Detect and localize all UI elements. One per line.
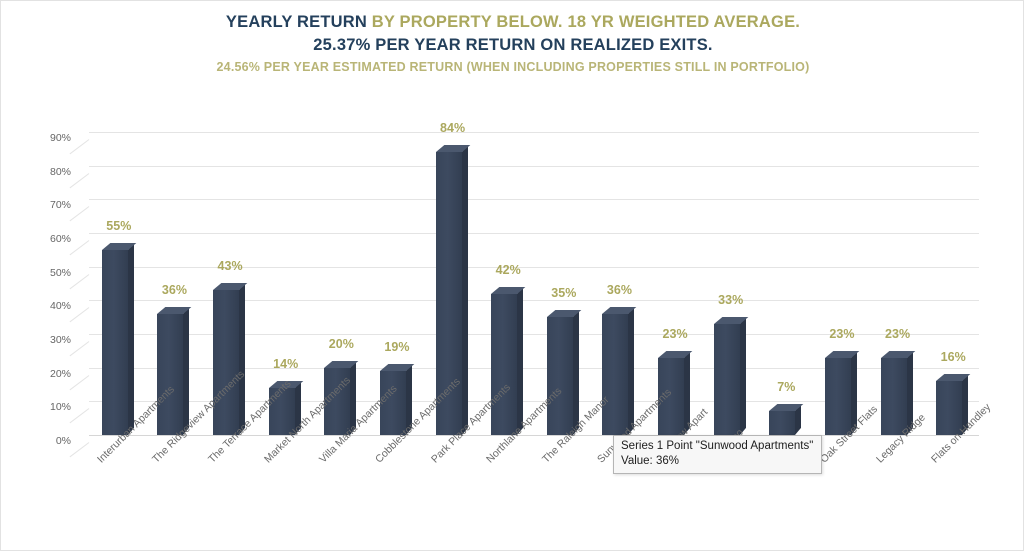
tooltip-value: Value: 36% — [621, 454, 813, 469]
tooltip-series-point: Series 1 Point "Sunwood Apartments" — [621, 439, 813, 454]
x-axis-category-label: Oak Street Flats — [818, 403, 880, 465]
x-axis-category-label: Flats on Handley — [929, 401, 993, 465]
chart-screenshot: YEARLY RETURN BY PROPERTY BELOW. 18 YR W… — [0, 0, 1024, 551]
x-axis-category-label: Legacy Ridge — [874, 412, 928, 466]
x-axis-category-labels: Interurban ApartmentsThe Ridgeview Apart… — [1, 1, 1024, 551]
chart-tooltip: Series 1 Point "Sunwood Apartments" Valu… — [613, 435, 822, 474]
x-axis-category-label: The Ridgeview Apartments — [150, 368, 247, 465]
